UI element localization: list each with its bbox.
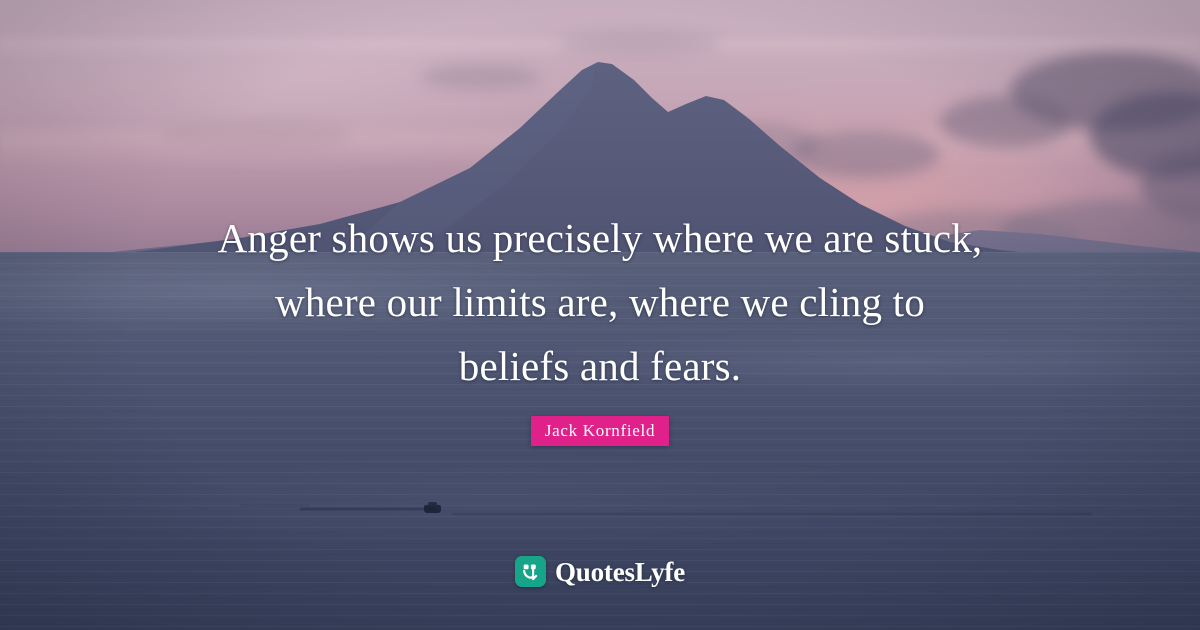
author-attribution: Jack Kornfield (0, 416, 1200, 446)
quote-marks-icon (515, 556, 546, 587)
quote-text: Anger shows us precisely where we are st… (0, 206, 1200, 398)
quote-card: Anger shows us precisely where we are st… (0, 0, 1200, 630)
quote-line-2: where our limits are, where we cling to (0, 270, 1200, 334)
content-overlay: Anger shows us precisely where we are st… (0, 0, 1200, 630)
author-name-badge[interactable]: Jack Kornfield (531, 416, 669, 446)
quote-line-1: Anger shows us precisely where we are st… (0, 206, 1200, 270)
brand-name: QuotesLyfe (555, 557, 685, 587)
quote-line-3: beliefs and fears. (0, 334, 1200, 398)
brand-logo[interactable]: QuotesLyfe (0, 556, 1200, 587)
